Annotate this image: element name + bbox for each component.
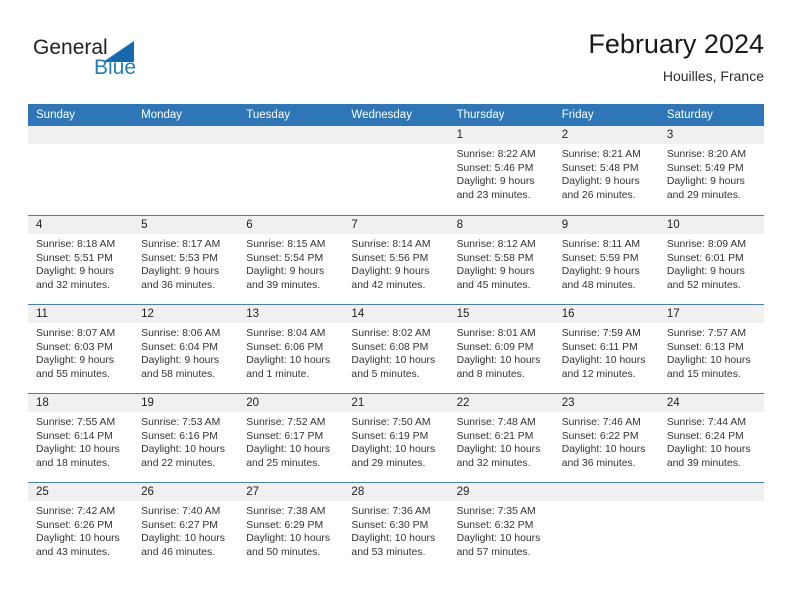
sunset-time: Sunset: 5:59 PM: [562, 252, 653, 266]
sunset-time: Sunset: 6:04 PM: [141, 341, 232, 355]
day-number: 18: [28, 394, 133, 412]
calendar-day-cell[interactable]: 26Sunrise: 7:40 AMSunset: 6:27 PMDayligh…: [133, 483, 238, 571]
day-sun-info: Sunrise: 7:40 AMSunset: 6:27 PMDaylight:…: [133, 501, 238, 559]
calendar-day-cell[interactable]: 13Sunrise: 8:04 AMSunset: 6:06 PMDayligh…: [238, 305, 343, 393]
day-number: 3: [659, 126, 764, 144]
daylight-duration-line2: and 58 minutes.: [141, 368, 232, 382]
sunset-time: Sunset: 6:32 PM: [457, 519, 548, 533]
day-sun-info: Sunrise: 7:35 AMSunset: 6:32 PMDaylight:…: [449, 501, 554, 559]
weekday-header-sunday: Sunday: [28, 104, 133, 126]
daylight-duration-line2: and 42 minutes.: [351, 279, 442, 293]
calendar-day-cell[interactable]: 4Sunrise: 8:18 AMSunset: 5:51 PMDaylight…: [28, 216, 133, 304]
sunrise-time: Sunrise: 8:11 AM: [562, 238, 653, 252]
daylight-duration-line1: Daylight: 10 hours: [351, 532, 442, 546]
sunset-time: Sunset: 6:08 PM: [351, 341, 442, 355]
day-sun-info: Sunrise: 8:22 AMSunset: 5:46 PMDaylight:…: [449, 144, 554, 202]
sunrise-time: Sunrise: 7:46 AM: [562, 416, 653, 430]
daylight-duration-line2: and 26 minutes.: [562, 189, 653, 203]
day-number: 26: [133, 483, 238, 501]
day-number: 7: [343, 216, 448, 234]
daylight-duration-line1: Daylight: 9 hours: [36, 265, 127, 279]
day-sun-info: Sunrise: 8:20 AMSunset: 5:49 PMDaylight:…: [659, 144, 764, 202]
daylight-duration-line2: and 25 minutes.: [246, 457, 337, 471]
calendar-day-cell-empty: [659, 483, 764, 571]
daylight-duration-line2: and 57 minutes.: [457, 546, 548, 560]
sunrise-time: Sunrise: 7:57 AM: [667, 327, 758, 341]
daylight-duration-line2: and 5 minutes.: [351, 368, 442, 382]
daylight-duration-line2: and 48 minutes.: [562, 279, 653, 293]
day-number: 25: [28, 483, 133, 501]
daylight-duration-line1: Daylight: 10 hours: [141, 532, 232, 546]
calendar-grid: Sunday Monday Tuesday Wednesday Thursday…: [28, 104, 764, 571]
sunset-time: Sunset: 6:03 PM: [36, 341, 127, 355]
day-number: 1: [449, 126, 554, 144]
calendar-day-cell[interactable]: 3Sunrise: 8:20 AMSunset: 5:49 PMDaylight…: [659, 126, 764, 215]
calendar-day-cell[interactable]: 28Sunrise: 7:36 AMSunset: 6:30 PMDayligh…: [343, 483, 448, 571]
day-number: 10: [659, 216, 764, 234]
day-sun-info: Sunrise: 7:46 AMSunset: 6:22 PMDaylight:…: [554, 412, 659, 470]
sunset-time: Sunset: 6:30 PM: [351, 519, 442, 533]
daylight-duration-line1: Daylight: 10 hours: [141, 443, 232, 457]
daylight-duration-line2: and 43 minutes.: [36, 546, 127, 560]
daylight-duration-line2: and 29 minutes.: [351, 457, 442, 471]
calendar-day-cell[interactable]: 11Sunrise: 8:07 AMSunset: 6:03 PMDayligh…: [28, 305, 133, 393]
day-number: 29: [449, 483, 554, 501]
sunrise-time: Sunrise: 8:17 AM: [141, 238, 232, 252]
day-sun-info: Sunrise: 8:14 AMSunset: 5:56 PMDaylight:…: [343, 234, 448, 292]
daylight-duration-line1: Daylight: 9 hours: [562, 175, 653, 189]
day-number: [238, 126, 343, 144]
sunrise-time: Sunrise: 8:01 AM: [457, 327, 548, 341]
day-sun-info: Sunrise: 8:21 AMSunset: 5:48 PMDaylight:…: [554, 144, 659, 202]
calendar-day-cell-empty: [28, 126, 133, 215]
daylight-duration-line1: Daylight: 10 hours: [36, 443, 127, 457]
daylight-duration-line2: and 18 minutes.: [36, 457, 127, 471]
daylight-duration-line2: and 36 minutes.: [562, 457, 653, 471]
daylight-duration-line1: Daylight: 10 hours: [457, 354, 548, 368]
day-number: 19: [133, 394, 238, 412]
sunrise-time: Sunrise: 7:36 AM: [351, 505, 442, 519]
sunset-time: Sunset: 5:49 PM: [667, 162, 758, 176]
day-sun-info: Sunrise: 7:44 AMSunset: 6:24 PMDaylight:…: [659, 412, 764, 470]
sunset-time: Sunset: 6:27 PM: [141, 519, 232, 533]
day-sun-info: Sunrise: 8:02 AMSunset: 6:08 PMDaylight:…: [343, 323, 448, 381]
location-subtitle: Houilles, France: [588, 66, 764, 86]
day-number: 20: [238, 394, 343, 412]
day-number: 21: [343, 394, 448, 412]
day-number: 28: [343, 483, 448, 501]
day-sun-info: Sunrise: 8:12 AMSunset: 5:58 PMDaylight:…: [449, 234, 554, 292]
daylight-duration-line2: and 23 minutes.: [457, 189, 548, 203]
daylight-duration-line2: and 22 minutes.: [141, 457, 232, 471]
day-number: 14: [343, 305, 448, 323]
page-header: General Blue February 2024 Houilles, Fra…: [28, 28, 764, 96]
sunrise-time: Sunrise: 8:06 AM: [141, 327, 232, 341]
calendar-day-cell[interactable]: 14Sunrise: 8:02 AMSunset: 6:08 PMDayligh…: [343, 305, 448, 393]
daylight-duration-line1: Daylight: 10 hours: [36, 532, 127, 546]
day-number: [554, 483, 659, 501]
sunrise-time: Sunrise: 8:09 AM: [667, 238, 758, 252]
calendar-day-cell[interactable]: 21Sunrise: 7:50 AMSunset: 6:19 PMDayligh…: [343, 394, 448, 482]
title-block: February 2024 Houilles, France: [588, 28, 764, 86]
day-number: 11: [28, 305, 133, 323]
sunset-time: Sunset: 5:54 PM: [246, 252, 337, 266]
day-sun-info: Sunrise: 7:50 AMSunset: 6:19 PMDaylight:…: [343, 412, 448, 470]
calendar-day-cell[interactable]: 7Sunrise: 8:14 AMSunset: 5:56 PMDaylight…: [343, 216, 448, 304]
sunset-time: Sunset: 6:13 PM: [667, 341, 758, 355]
sunset-time: Sunset: 6:14 PM: [36, 430, 127, 444]
daylight-duration-line2: and 39 minutes.: [667, 457, 758, 471]
calendar-week-row: 11Sunrise: 8:07 AMSunset: 6:03 PMDayligh…: [28, 304, 764, 393]
daylight-duration-line1: Daylight: 10 hours: [457, 443, 548, 457]
sunset-time: Sunset: 5:51 PM: [36, 252, 127, 266]
daylight-duration-line1: Daylight: 10 hours: [351, 354, 442, 368]
day-sun-info: Sunrise: 7:53 AMSunset: 6:16 PMDaylight:…: [133, 412, 238, 470]
day-sun-info: Sunrise: 7:42 AMSunset: 6:26 PMDaylight:…: [28, 501, 133, 559]
daylight-duration-line1: Daylight: 9 hours: [667, 175, 758, 189]
calendar-day-cell-empty: [343, 126, 448, 215]
daylight-duration-line2: and 50 minutes.: [246, 546, 337, 560]
calendar-day-cell[interactable]: 15Sunrise: 8:01 AMSunset: 6:09 PMDayligh…: [449, 305, 554, 393]
sunrise-time: Sunrise: 7:50 AM: [351, 416, 442, 430]
day-sun-info: Sunrise: 7:36 AMSunset: 6:30 PMDaylight:…: [343, 501, 448, 559]
calendar-day-cell[interactable]: 19Sunrise: 7:53 AMSunset: 6:16 PMDayligh…: [133, 394, 238, 482]
daylight-duration-line1: Daylight: 9 hours: [246, 265, 337, 279]
sunrise-time: Sunrise: 7:53 AM: [141, 416, 232, 430]
calendar-weeks: 1Sunrise: 8:22 AMSunset: 5:46 PMDaylight…: [28, 126, 764, 571]
sunset-time: Sunset: 5:53 PM: [141, 252, 232, 266]
calendar-day-cell-empty: [238, 126, 343, 215]
calendar-day-cell[interactable]: 6Sunrise: 8:15 AMSunset: 5:54 PMDaylight…: [238, 216, 343, 304]
daylight-duration-line2: and 52 minutes.: [667, 279, 758, 293]
sunset-time: Sunset: 6:17 PM: [246, 430, 337, 444]
sunrise-time: Sunrise: 8:02 AM: [351, 327, 442, 341]
day-sun-info: Sunrise: 8:17 AMSunset: 5:53 PMDaylight:…: [133, 234, 238, 292]
day-number: 16: [554, 305, 659, 323]
weekday-header-row: Sunday Monday Tuesday Wednesday Thursday…: [28, 104, 764, 126]
calendar-day-cell[interactable]: 8Sunrise: 8:12 AMSunset: 5:58 PMDaylight…: [449, 216, 554, 304]
sunset-time: Sunset: 6:06 PM: [246, 341, 337, 355]
weekday-header-saturday: Saturday: [659, 104, 764, 126]
sunrise-time: Sunrise: 7:40 AM: [141, 505, 232, 519]
day-sun-info: Sunrise: 7:59 AMSunset: 6:11 PMDaylight:…: [554, 323, 659, 381]
calendar-day-cell[interactable]: 10Sunrise: 8:09 AMSunset: 6:01 PMDayligh…: [659, 216, 764, 304]
daylight-duration-line2: and 53 minutes.: [351, 546, 442, 560]
day-number: 9: [554, 216, 659, 234]
sunrise-time: Sunrise: 7:59 AM: [562, 327, 653, 341]
day-number: 15: [449, 305, 554, 323]
calendar-day-cell[interactable]: 23Sunrise: 7:46 AMSunset: 6:22 PMDayligh…: [554, 394, 659, 482]
sunset-time: Sunset: 6:19 PM: [351, 430, 442, 444]
day-sun-info: Sunrise: 7:52 AMSunset: 6:17 PMDaylight:…: [238, 412, 343, 470]
calendar-week-row: 4Sunrise: 8:18 AMSunset: 5:51 PMDaylight…: [28, 215, 764, 304]
daylight-duration-line2: and 15 minutes.: [667, 368, 758, 382]
day-number: 23: [554, 394, 659, 412]
logo-text-blue: Blue: [94, 56, 136, 80]
calendar-day-cell[interactable]: 25Sunrise: 7:42 AMSunset: 6:26 PMDayligh…: [28, 483, 133, 571]
sunset-time: Sunset: 6:22 PM: [562, 430, 653, 444]
daylight-duration-line1: Daylight: 10 hours: [246, 532, 337, 546]
daylight-duration-line2: and 45 minutes.: [457, 279, 548, 293]
sunrise-time: Sunrise: 8:15 AM: [246, 238, 337, 252]
sunrise-time: Sunrise: 7:48 AM: [457, 416, 548, 430]
sunrise-time: Sunrise: 8:20 AM: [667, 148, 758, 162]
sunrise-time: Sunrise: 8:07 AM: [36, 327, 127, 341]
day-number: 4: [28, 216, 133, 234]
calendar-day-cell[interactable]: 17Sunrise: 7:57 AMSunset: 6:13 PMDayligh…: [659, 305, 764, 393]
calendar-day-cell-empty: [554, 483, 659, 571]
day-number: 5: [133, 216, 238, 234]
weekday-header-tuesday: Tuesday: [238, 104, 343, 126]
day-number: 13: [238, 305, 343, 323]
day-number: 22: [449, 394, 554, 412]
weekday-header-monday: Monday: [133, 104, 238, 126]
day-sun-info: Sunrise: 8:18 AMSunset: 5:51 PMDaylight:…: [28, 234, 133, 292]
sunset-time: Sunset: 6:29 PM: [246, 519, 337, 533]
sunset-time: Sunset: 6:21 PM: [457, 430, 548, 444]
day-sun-info: Sunrise: 8:04 AMSunset: 6:06 PMDaylight:…: [238, 323, 343, 381]
daylight-duration-line2: and 29 minutes.: [667, 189, 758, 203]
daylight-duration-line1: Daylight: 9 hours: [36, 354, 127, 368]
daylight-duration-line1: Daylight: 10 hours: [457, 532, 548, 546]
daylight-duration-line2: and 12 minutes.: [562, 368, 653, 382]
calendar-week-row: 1Sunrise: 8:22 AMSunset: 5:46 PMDaylight…: [28, 126, 764, 215]
calendar-day-cell[interactable]: 20Sunrise: 7:52 AMSunset: 6:17 PMDayligh…: [238, 394, 343, 482]
day-sun-info: Sunrise: 7:38 AMSunset: 6:29 PMDaylight:…: [238, 501, 343, 559]
day-sun-info: Sunrise: 7:55 AMSunset: 6:14 PMDaylight:…: [28, 412, 133, 470]
sunrise-time: Sunrise: 7:52 AM: [246, 416, 337, 430]
daylight-duration-line2: and 1 minute.: [246, 368, 337, 382]
day-number: [133, 126, 238, 144]
day-number: 8: [449, 216, 554, 234]
calendar-day-cell[interactable]: 12Sunrise: 8:06 AMSunset: 6:04 PMDayligh…: [133, 305, 238, 393]
sunrise-time: Sunrise: 8:21 AM: [562, 148, 653, 162]
day-sun-info: Sunrise: 7:48 AMSunset: 6:21 PMDaylight:…: [449, 412, 554, 470]
calendar-week-row: 18Sunrise: 7:55 AMSunset: 6:14 PMDayligh…: [28, 393, 764, 482]
daylight-duration-line2: and 36 minutes.: [141, 279, 232, 293]
sunrise-time: Sunrise: 7:38 AM: [246, 505, 337, 519]
day-number: 12: [133, 305, 238, 323]
day-number: 24: [659, 394, 764, 412]
day-number: [343, 126, 448, 144]
daylight-duration-line1: Daylight: 10 hours: [562, 443, 653, 457]
sunset-time: Sunset: 5:56 PM: [351, 252, 442, 266]
daylight-duration-line2: and 39 minutes.: [246, 279, 337, 293]
sunset-time: Sunset: 6:26 PM: [36, 519, 127, 533]
calendar-day-cell[interactable]: 29Sunrise: 7:35 AMSunset: 6:32 PMDayligh…: [449, 483, 554, 571]
calendar-page: General Blue February 2024 Houilles, Fra…: [0, 0, 792, 612]
calendar-day-cell[interactable]: 27Sunrise: 7:38 AMSunset: 6:29 PMDayligh…: [238, 483, 343, 571]
calendar-day-cell[interactable]: 1Sunrise: 8:22 AMSunset: 5:46 PMDaylight…: [449, 126, 554, 215]
weekday-header-friday: Friday: [554, 104, 659, 126]
sunset-time: Sunset: 5:48 PM: [562, 162, 653, 176]
daylight-duration-line1: Daylight: 9 hours: [351, 265, 442, 279]
sunrise-time: Sunrise: 7:55 AM: [36, 416, 127, 430]
day-sun-info: Sunrise: 8:11 AMSunset: 5:59 PMDaylight:…: [554, 234, 659, 292]
weekday-header-wednesday: Wednesday: [343, 104, 448, 126]
sunset-time: Sunset: 6:24 PM: [667, 430, 758, 444]
daylight-duration-line1: Daylight: 10 hours: [562, 354, 653, 368]
day-number: 6: [238, 216, 343, 234]
daylight-duration-line1: Daylight: 9 hours: [141, 265, 232, 279]
day-number: [28, 126, 133, 144]
daylight-duration-line1: Daylight: 10 hours: [667, 443, 758, 457]
day-sun-info: Sunrise: 7:57 AMSunset: 6:13 PMDaylight:…: [659, 323, 764, 381]
sunrise-time: Sunrise: 7:35 AM: [457, 505, 548, 519]
calendar-day-cell[interactable]: 16Sunrise: 7:59 AMSunset: 6:11 PMDayligh…: [554, 305, 659, 393]
calendar-day-cell[interactable]: 18Sunrise: 7:55 AMSunset: 6:14 PMDayligh…: [28, 394, 133, 482]
sunset-time: Sunset: 6:11 PM: [562, 341, 653, 355]
daylight-duration-line2: and 32 minutes.: [457, 457, 548, 471]
day-sun-info: Sunrise: 8:09 AMSunset: 6:01 PMDaylight:…: [659, 234, 764, 292]
daylight-duration-line2: and 32 minutes.: [36, 279, 127, 293]
sunset-time: Sunset: 6:16 PM: [141, 430, 232, 444]
sunset-time: Sunset: 6:09 PM: [457, 341, 548, 355]
daylight-duration-line1: Daylight: 10 hours: [351, 443, 442, 457]
page-title: February 2024: [588, 28, 764, 60]
day-number: [659, 483, 764, 501]
calendar-day-cell[interactable]: 24Sunrise: 7:44 AMSunset: 6:24 PMDayligh…: [659, 394, 764, 482]
daylight-duration-line1: Daylight: 10 hours: [667, 354, 758, 368]
calendar-day-cell[interactable]: 2Sunrise: 8:21 AMSunset: 5:48 PMDaylight…: [554, 126, 659, 215]
day-sun-info: Sunrise: 8:01 AMSunset: 6:09 PMDaylight:…: [449, 323, 554, 381]
day-sun-info: Sunrise: 8:07 AMSunset: 6:03 PMDaylight:…: [28, 323, 133, 381]
sunrise-time: Sunrise: 7:42 AM: [36, 505, 127, 519]
day-sun-info: Sunrise: 8:15 AMSunset: 5:54 PMDaylight:…: [238, 234, 343, 292]
sunrise-time: Sunrise: 8:04 AM: [246, 327, 337, 341]
sunrise-time: Sunrise: 8:18 AM: [36, 238, 127, 252]
sunrise-time: Sunrise: 8:22 AM: [457, 148, 548, 162]
calendar-day-cell[interactable]: 22Sunrise: 7:48 AMSunset: 6:21 PMDayligh…: [449, 394, 554, 482]
sunrise-time: Sunrise: 8:14 AM: [351, 238, 442, 252]
daylight-duration-line1: Daylight: 10 hours: [246, 443, 337, 457]
day-number: 17: [659, 305, 764, 323]
daylight-duration-line2: and 46 minutes.: [141, 546, 232, 560]
sunrise-time: Sunrise: 8:12 AM: [457, 238, 548, 252]
calendar-day-cell[interactable]: 9Sunrise: 8:11 AMSunset: 5:59 PMDaylight…: [554, 216, 659, 304]
daylight-duration-line1: Daylight: 9 hours: [141, 354, 232, 368]
daylight-duration-line1: Daylight: 9 hours: [457, 175, 548, 189]
calendar-week-row: 25Sunrise: 7:42 AMSunset: 6:26 PMDayligh…: [28, 482, 764, 571]
daylight-duration-line2: and 8 minutes.: [457, 368, 548, 382]
day-sun-info: Sunrise: 8:06 AMSunset: 6:04 PMDaylight:…: [133, 323, 238, 381]
sunset-time: Sunset: 5:58 PM: [457, 252, 548, 266]
daylight-duration-line1: Daylight: 9 hours: [457, 265, 548, 279]
daylight-duration-line2: and 55 minutes.: [36, 368, 127, 382]
weekday-header-thursday: Thursday: [449, 104, 554, 126]
sunset-time: Sunset: 6:01 PM: [667, 252, 758, 266]
day-number: 2: [554, 126, 659, 144]
daylight-duration-line1: Daylight: 9 hours: [667, 265, 758, 279]
sunset-time: Sunset: 5:46 PM: [457, 162, 548, 176]
daylight-duration-line1: Daylight: 10 hours: [246, 354, 337, 368]
day-number: 27: [238, 483, 343, 501]
general-blue-logo[interactable]: General Blue: [33, 36, 163, 88]
sunrise-time: Sunrise: 7:44 AM: [667, 416, 758, 430]
daylight-duration-line1: Daylight: 9 hours: [562, 265, 653, 279]
calendar-day-cell[interactable]: 5Sunrise: 8:17 AMSunset: 5:53 PMDaylight…: [133, 216, 238, 304]
calendar-day-cell-empty: [133, 126, 238, 215]
